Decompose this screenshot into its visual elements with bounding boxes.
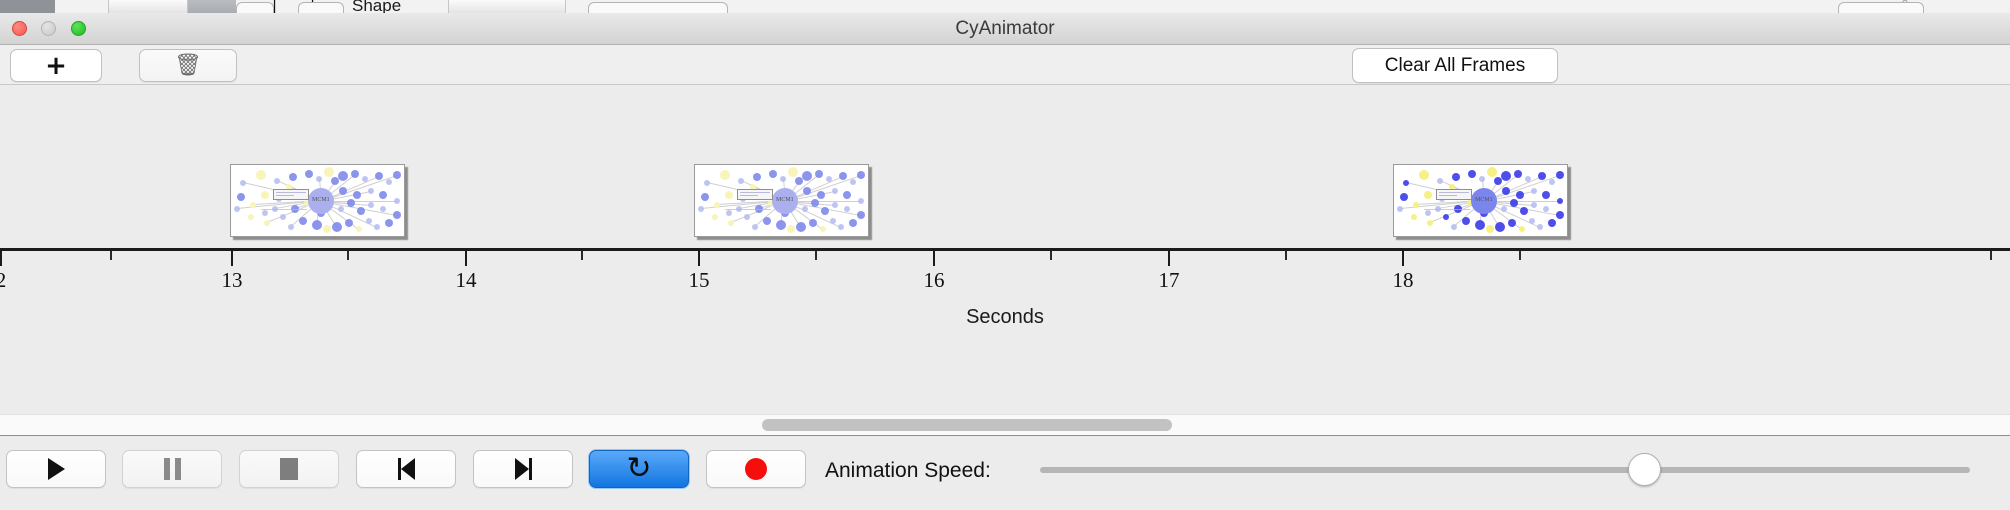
graph-node	[832, 202, 838, 208]
graph-node	[368, 202, 374, 208]
graph-node	[362, 176, 368, 182]
graph-node	[1502, 187, 1510, 195]
graph-node	[738, 178, 744, 184]
graph-node	[1538, 172, 1546, 180]
plus-icon: +	[45, 53, 67, 79]
add-frame-button[interactable]: +	[10, 49, 102, 82]
trash-icon: 🗑	[174, 55, 202, 77]
timeline-axis	[0, 248, 2010, 251]
graph-node	[1437, 178, 1443, 184]
graph-tooltip-text-line	[740, 195, 758, 196]
background-rounded-field	[236, 2, 274, 13]
background-tab-2	[448, 0, 566, 13]
graph-node	[288, 224, 294, 230]
skip-to-end-icon	[515, 458, 532, 480]
background-rounded-field-4	[1838, 2, 1924, 13]
network-graph-thumbnail: MCM1	[1394, 165, 1567, 236]
graph-node	[728, 220, 734, 226]
graph-tooltip-text-line	[740, 192, 770, 193]
graph-node	[1424, 191, 1432, 199]
playback-control-bar: ↻ Animation Speed:	[0, 437, 2010, 510]
graph-node	[1519, 226, 1525, 232]
graph-node	[1427, 220, 1433, 226]
timeline-scrollbar-thumb[interactable]	[762, 419, 1172, 431]
loop-icon: ↻	[626, 454, 651, 484]
graph-node	[1531, 188, 1537, 194]
axis-tick-label: 14	[456, 268, 477, 293]
graph-node	[809, 219, 817, 227]
axis-minor-tick	[581, 251, 583, 260]
graph-node	[1514, 170, 1522, 178]
graph-node	[1413, 202, 1419, 208]
graph-node	[380, 206, 386, 212]
skip-to-start-button[interactable]	[356, 450, 456, 488]
graph-node	[351, 170, 359, 178]
graph-node	[1508, 219, 1516, 227]
graph-node	[858, 198, 864, 204]
graph-node	[1486, 225, 1494, 233]
cyanimator-window: | | Shape ⌃ CyAnimator + 🗑 Clear All Fra…	[0, 0, 2010, 510]
axis-tick	[1402, 251, 1404, 266]
background-tab	[108, 0, 188, 13]
graph-node	[1501, 171, 1511, 181]
play-icon	[48, 458, 65, 480]
graph-node	[1510, 199, 1518, 207]
graph-node	[299, 217, 307, 225]
graph-node	[237, 193, 245, 201]
graph-node	[802, 171, 812, 181]
graph-node	[712, 214, 718, 220]
graph-node	[763, 217, 771, 225]
graph-node	[1520, 207, 1528, 215]
graph-node	[803, 187, 811, 195]
background-dark-tab-2	[188, 0, 236, 13]
graph-node	[839, 172, 847, 180]
graph-node	[725, 191, 733, 199]
timeline-frame[interactable]: MCM1	[694, 164, 869, 237]
graph-node	[1403, 180, 1409, 186]
network-graph-thumbnail: MCM1	[695, 165, 868, 236]
skip-to-start-icon	[398, 458, 415, 480]
graph-node	[338, 171, 348, 181]
axis-tick-label: 15	[689, 268, 710, 293]
graph-node	[714, 202, 720, 208]
graph-node	[264, 220, 270, 226]
graph-node	[338, 206, 344, 212]
graph-node	[1443, 214, 1449, 220]
graph-node	[838, 224, 844, 230]
graph-node	[1549, 179, 1555, 185]
graph-node	[780, 176, 786, 182]
graph-node	[776, 220, 786, 230]
graph-node	[1529, 218, 1535, 224]
axis-minor-tick	[815, 251, 817, 260]
graph-node	[374, 224, 380, 230]
graph-node	[1475, 220, 1485, 230]
graph-caption-text	[1424, 209, 1470, 210]
graph-node	[375, 172, 383, 180]
axis-tick-label: 17	[1159, 268, 1180, 293]
axis-tick	[0, 251, 2, 266]
graph-node	[1487, 167, 1497, 177]
stop-button[interactable]	[239, 450, 339, 488]
graph-hub-label: MCM1	[1475, 197, 1493, 203]
graph-node	[857, 171, 865, 179]
graph-node	[849, 219, 857, 227]
axis-tick-label: 13	[222, 268, 243, 293]
graph-node	[1452, 173, 1460, 181]
graph-node	[356, 226, 362, 232]
timeline-frame[interactable]: MCM1	[1393, 164, 1568, 237]
graph-node	[366, 218, 372, 224]
axis-tick	[231, 251, 233, 266]
graph-node	[379, 191, 387, 199]
skip-to-end-button[interactable]	[473, 450, 573, 488]
background-rounded-field-2	[298, 2, 344, 13]
graph-node	[347, 199, 355, 207]
graph-tooltip-text-line	[276, 195, 294, 196]
graph-node	[1525, 176, 1531, 182]
graph-node	[843, 191, 851, 199]
graph-node	[332, 222, 342, 232]
background-dark-tab	[0, 0, 55, 13]
background-rounded-field-3	[588, 2, 728, 13]
graph-node	[1400, 193, 1408, 201]
graph-node	[1495, 222, 1505, 232]
graph-node	[1531, 202, 1537, 208]
graph-node	[815, 170, 823, 178]
graph-node	[1462, 217, 1470, 225]
graph-node	[1425, 210, 1431, 216]
graph-node	[1542, 191, 1550, 199]
graph-node	[324, 167, 334, 177]
background-glyph-chevron: ⌃	[1900, 0, 1910, 11]
graph-node	[256, 170, 266, 180]
play-button[interactable]	[6, 450, 106, 488]
graph-node	[720, 170, 730, 180]
record-button[interactable]	[706, 450, 806, 488]
graph-tooltip-text-line	[276, 192, 306, 193]
axis-tick	[1168, 251, 1170, 266]
graph-node	[280, 214, 286, 220]
axis-tick	[698, 251, 700, 266]
graph-node	[1556, 211, 1564, 219]
graph-node	[1451, 224, 1457, 230]
graph-node	[234, 206, 240, 212]
axis-tick-label: 18	[1393, 268, 1414, 293]
pause-button[interactable]	[122, 450, 222, 488]
graph-node	[811, 199, 819, 207]
axis-minor-tick	[110, 251, 112, 260]
graph-node	[788, 167, 798, 177]
graph-node	[1419, 170, 1429, 180]
clear-all-frames-label: Clear All Frames	[1385, 55, 1525, 77]
graph-node	[339, 187, 347, 195]
graph-node	[353, 191, 361, 199]
window-title: CyAnimator	[0, 13, 2010, 45]
graph-node	[262, 210, 268, 216]
stop-icon	[280, 458, 298, 480]
axis-tick-label: 16	[924, 268, 945, 293]
graph-node	[752, 224, 758, 230]
graph-node	[1479, 176, 1485, 182]
graph-node	[1548, 219, 1556, 227]
graph-node	[753, 173, 761, 181]
graph-node	[386, 179, 392, 185]
graph-node	[1501, 206, 1507, 212]
graph-node	[312, 220, 322, 230]
graph-node	[844, 206, 850, 212]
timeline-frame[interactable]: MCM1	[230, 164, 405, 237]
graph-node	[796, 222, 806, 232]
graph-node	[274, 178, 280, 184]
pause-icon	[164, 458, 181, 480]
graph-node	[701, 193, 709, 201]
graph-node	[802, 206, 808, 212]
axis-minor-tick	[1050, 251, 1052, 260]
animation-speed-slider-thumb[interactable]	[1628, 453, 1661, 486]
graph-caption-text	[261, 209, 307, 210]
graph-node	[385, 219, 393, 227]
graph-node	[826, 176, 832, 182]
graph-node	[1537, 224, 1543, 230]
graph-node	[393, 171, 401, 179]
background-window-strip: | | Shape ⌃	[0, 0, 2010, 13]
graph-node	[830, 218, 836, 224]
animation-speed-label: Animation Speed:	[825, 459, 991, 483]
clear-all-frames-button[interactable]: Clear All Frames	[1352, 48, 1558, 83]
axis-tick-label: 2	[0, 268, 6, 293]
graph-node	[1397, 206, 1403, 212]
graph-caption-text	[725, 209, 771, 210]
graph-tooltip-text-line	[1439, 192, 1469, 193]
graph-node	[368, 188, 374, 194]
graph-node	[1411, 214, 1417, 220]
timeline-pane[interactable]: MCM1MCM1MCM1 2131415161718 Seconds	[0, 86, 2010, 410]
graph-node	[1557, 198, 1563, 204]
graph-node	[357, 207, 365, 215]
frames-area[interactable]: MCM1MCM1MCM1	[0, 86, 2010, 249]
graph-node	[1468, 170, 1476, 178]
graph-node	[345, 219, 353, 227]
loop-toggle-button[interactable]: ↻	[589, 450, 689, 488]
graph-tooltip-text-line	[1439, 195, 1457, 196]
graph-node	[726, 210, 732, 216]
axis-minor-tick	[347, 251, 349, 260]
axis-tick	[933, 251, 935, 266]
graph-node	[820, 226, 826, 232]
axis-title: Seconds	[0, 306, 2010, 329]
graph-node	[393, 211, 401, 219]
record-icon	[745, 458, 767, 480]
axis-minor-tick	[1519, 251, 1521, 260]
graph-node	[250, 202, 256, 208]
timeline-scrollbar[interactable]	[0, 414, 2010, 436]
background-shape-label: Shape	[352, 0, 401, 13]
graph-node	[857, 211, 865, 219]
graph-node	[1543, 206, 1549, 212]
graph-node	[289, 173, 297, 181]
graph-hub-label: MCM1	[312, 197, 330, 203]
graph-node	[832, 188, 838, 194]
graph-node	[744, 214, 750, 220]
delete-frame-button[interactable]: 🗑	[139, 49, 237, 82]
axis-minor-tick	[1990, 251, 1992, 260]
graph-hub-label: MCM1	[776, 197, 794, 203]
graph-node	[704, 180, 710, 186]
animation-speed-slider[interactable]	[1040, 467, 1970, 473]
axis-minor-tick	[1285, 251, 1287, 260]
graph-node	[698, 206, 704, 212]
graph-node	[248, 214, 254, 220]
toolbar: + 🗑 Clear All Frames	[0, 45, 2010, 85]
graph-node	[1556, 171, 1564, 179]
graph-node	[261, 191, 269, 199]
graph-node	[240, 180, 246, 186]
graph-node	[817, 191, 825, 199]
graph-node	[323, 225, 331, 233]
axis-tick	[465, 251, 467, 266]
title-bar: CyAnimator	[0, 13, 2010, 45]
graph-node	[394, 198, 400, 204]
graph-node	[316, 176, 322, 182]
graph-node	[305, 170, 313, 178]
network-graph-thumbnail: MCM1	[231, 165, 404, 236]
graph-node	[769, 170, 777, 178]
graph-node	[1516, 191, 1524, 199]
graph-node	[850, 179, 856, 185]
graph-node	[787, 225, 795, 233]
graph-node	[821, 207, 829, 215]
